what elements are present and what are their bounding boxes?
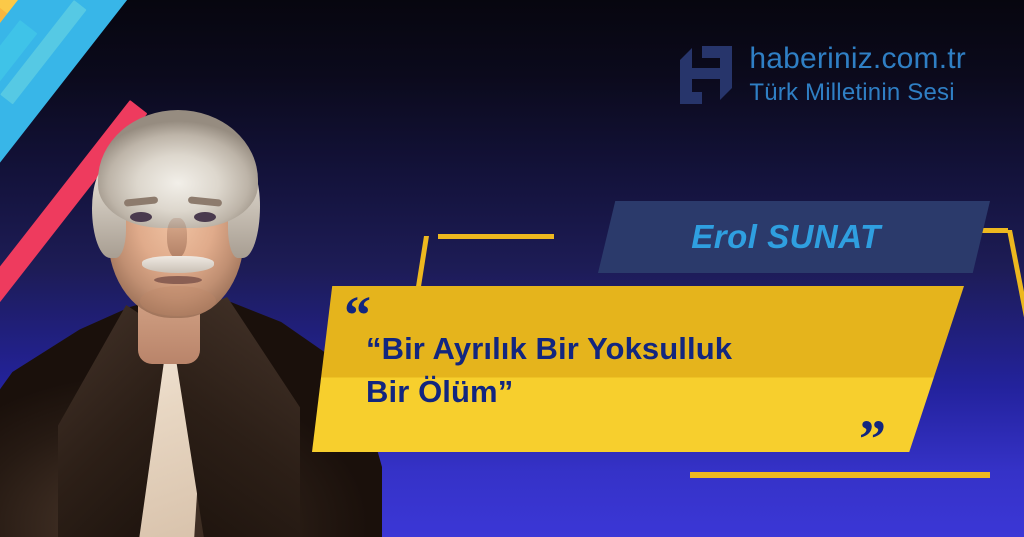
portrait-eye-left — [130, 212, 152, 222]
portrait-moustache — [142, 256, 214, 273]
author-name-banner: Erol SUNAT — [598, 201, 990, 273]
brand-title: haberiniz.com.tr — [749, 44, 966, 74]
site-branding[interactable]: haberiniz.com.tr Türk Milletinin Sesi — [680, 44, 966, 105]
author-name: Erol SUNAT — [691, 218, 881, 256]
brand-subtitle: Türk Milletinin Sesi — [749, 81, 954, 105]
portrait-nose — [167, 218, 187, 258]
portrait-chin — [140, 286, 216, 316]
banner-canvas: haberiniz.com.tr Türk Milletinin Sesi Er… — [0, 0, 1024, 537]
brand-text-group: haberiniz.com.tr Türk Milletinin Sesi — [749, 44, 966, 105]
frame-outline-bottom — [690, 472, 990, 478]
portrait-mouth — [154, 276, 202, 284]
frame-right-vertical — [1007, 230, 1024, 480]
frame-top-left-horizontal — [438, 234, 554, 239]
quote-block: “ “Bir Ayrılık Bir Yoksulluk Bir Ölüm” ” — [312, 286, 964, 452]
quote-line-1: “Bir Ayrılık Bir Yoksulluk — [366, 328, 904, 371]
portrait-eye-right — [194, 212, 216, 222]
portrait-hair — [98, 110, 258, 228]
h-monogram-logo-icon — [680, 46, 732, 104]
quote-line-2: Bir Ölüm” — [366, 371, 904, 414]
quote-text: “Bir Ayrılık Bir Yoksulluk Bir Ölüm” — [366, 328, 904, 414]
portrait-image — [0, 96, 382, 537]
